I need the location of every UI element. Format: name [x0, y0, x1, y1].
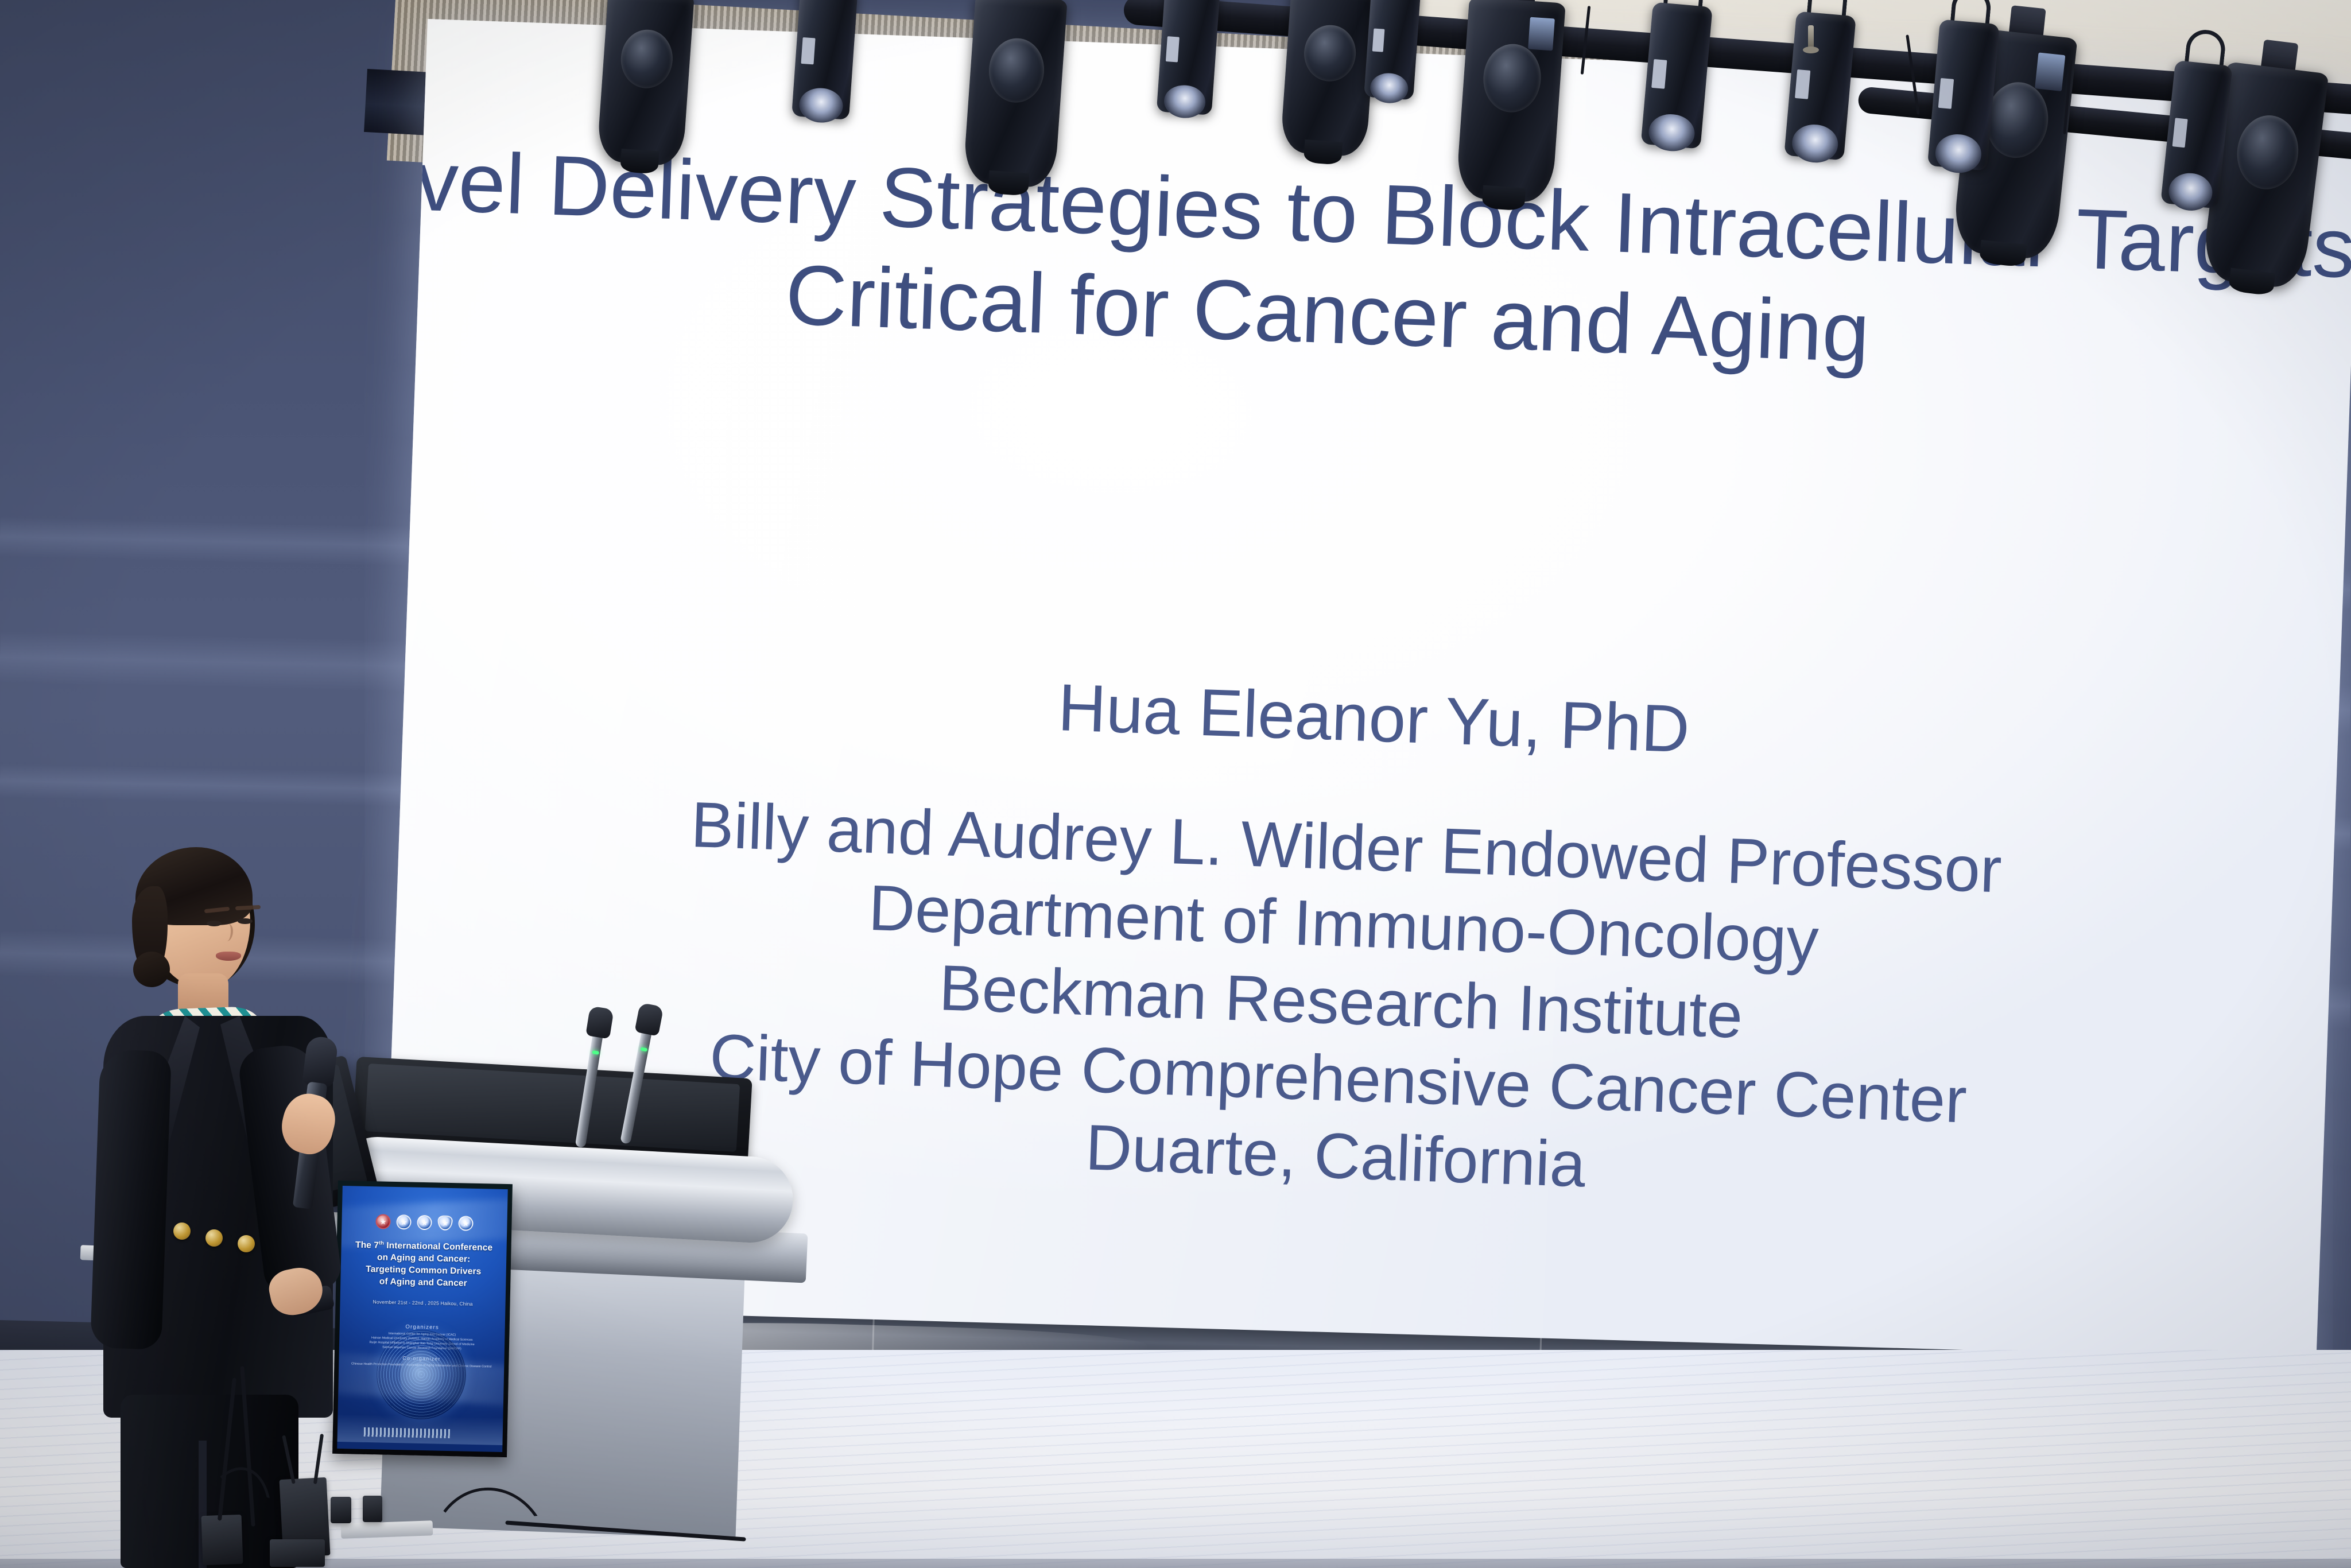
blazer-arm-left [90, 1049, 172, 1350]
led-par-light [1641, 2, 1713, 149]
microphone-grille [302, 1035, 339, 1088]
power-adapter [363, 1496, 382, 1522]
led-par-light [1927, 19, 2000, 170]
blazer-gold-button [205, 1229, 223, 1247]
chpf-logo [458, 1216, 474, 1231]
eyebrow [235, 905, 261, 910]
eye [207, 921, 222, 926]
led-par-light [1364, 0, 1421, 100]
microphone-capsule [585, 1006, 614, 1039]
moving-head-light [596, 0, 695, 167]
mouth [216, 952, 241, 961]
swcrf-logo [437, 1216, 453, 1231]
slide-speaker-name: Hua Eleanor Yu, PhD [483, 647, 2264, 790]
blazer-gold-button [173, 1222, 191, 1240]
moving-head-light [963, 0, 1068, 189]
speaker-person [98, 844, 419, 1568]
blazer-gold-button [238, 1235, 255, 1252]
icac-logo [417, 1215, 432, 1231]
hair-bun [133, 952, 170, 987]
conference-stage-photo: Novel Delivery Strategies to Block Intra… [0, 0, 2351, 1568]
sprinkler-head [1808, 25, 1814, 48]
eye [238, 918, 253, 924]
led-par-light [792, 0, 858, 120]
av-adapter-block [270, 1539, 325, 1567]
microphone-status-led [640, 1047, 647, 1051]
power-adapter [331, 1497, 351, 1523]
led-par-light [1157, 0, 1220, 115]
led-par-light [1784, 11, 1856, 160]
moving-head-light [1456, 0, 1566, 204]
microphone-status-led [592, 1050, 599, 1055]
moving-head-light [1280, 0, 1378, 158]
